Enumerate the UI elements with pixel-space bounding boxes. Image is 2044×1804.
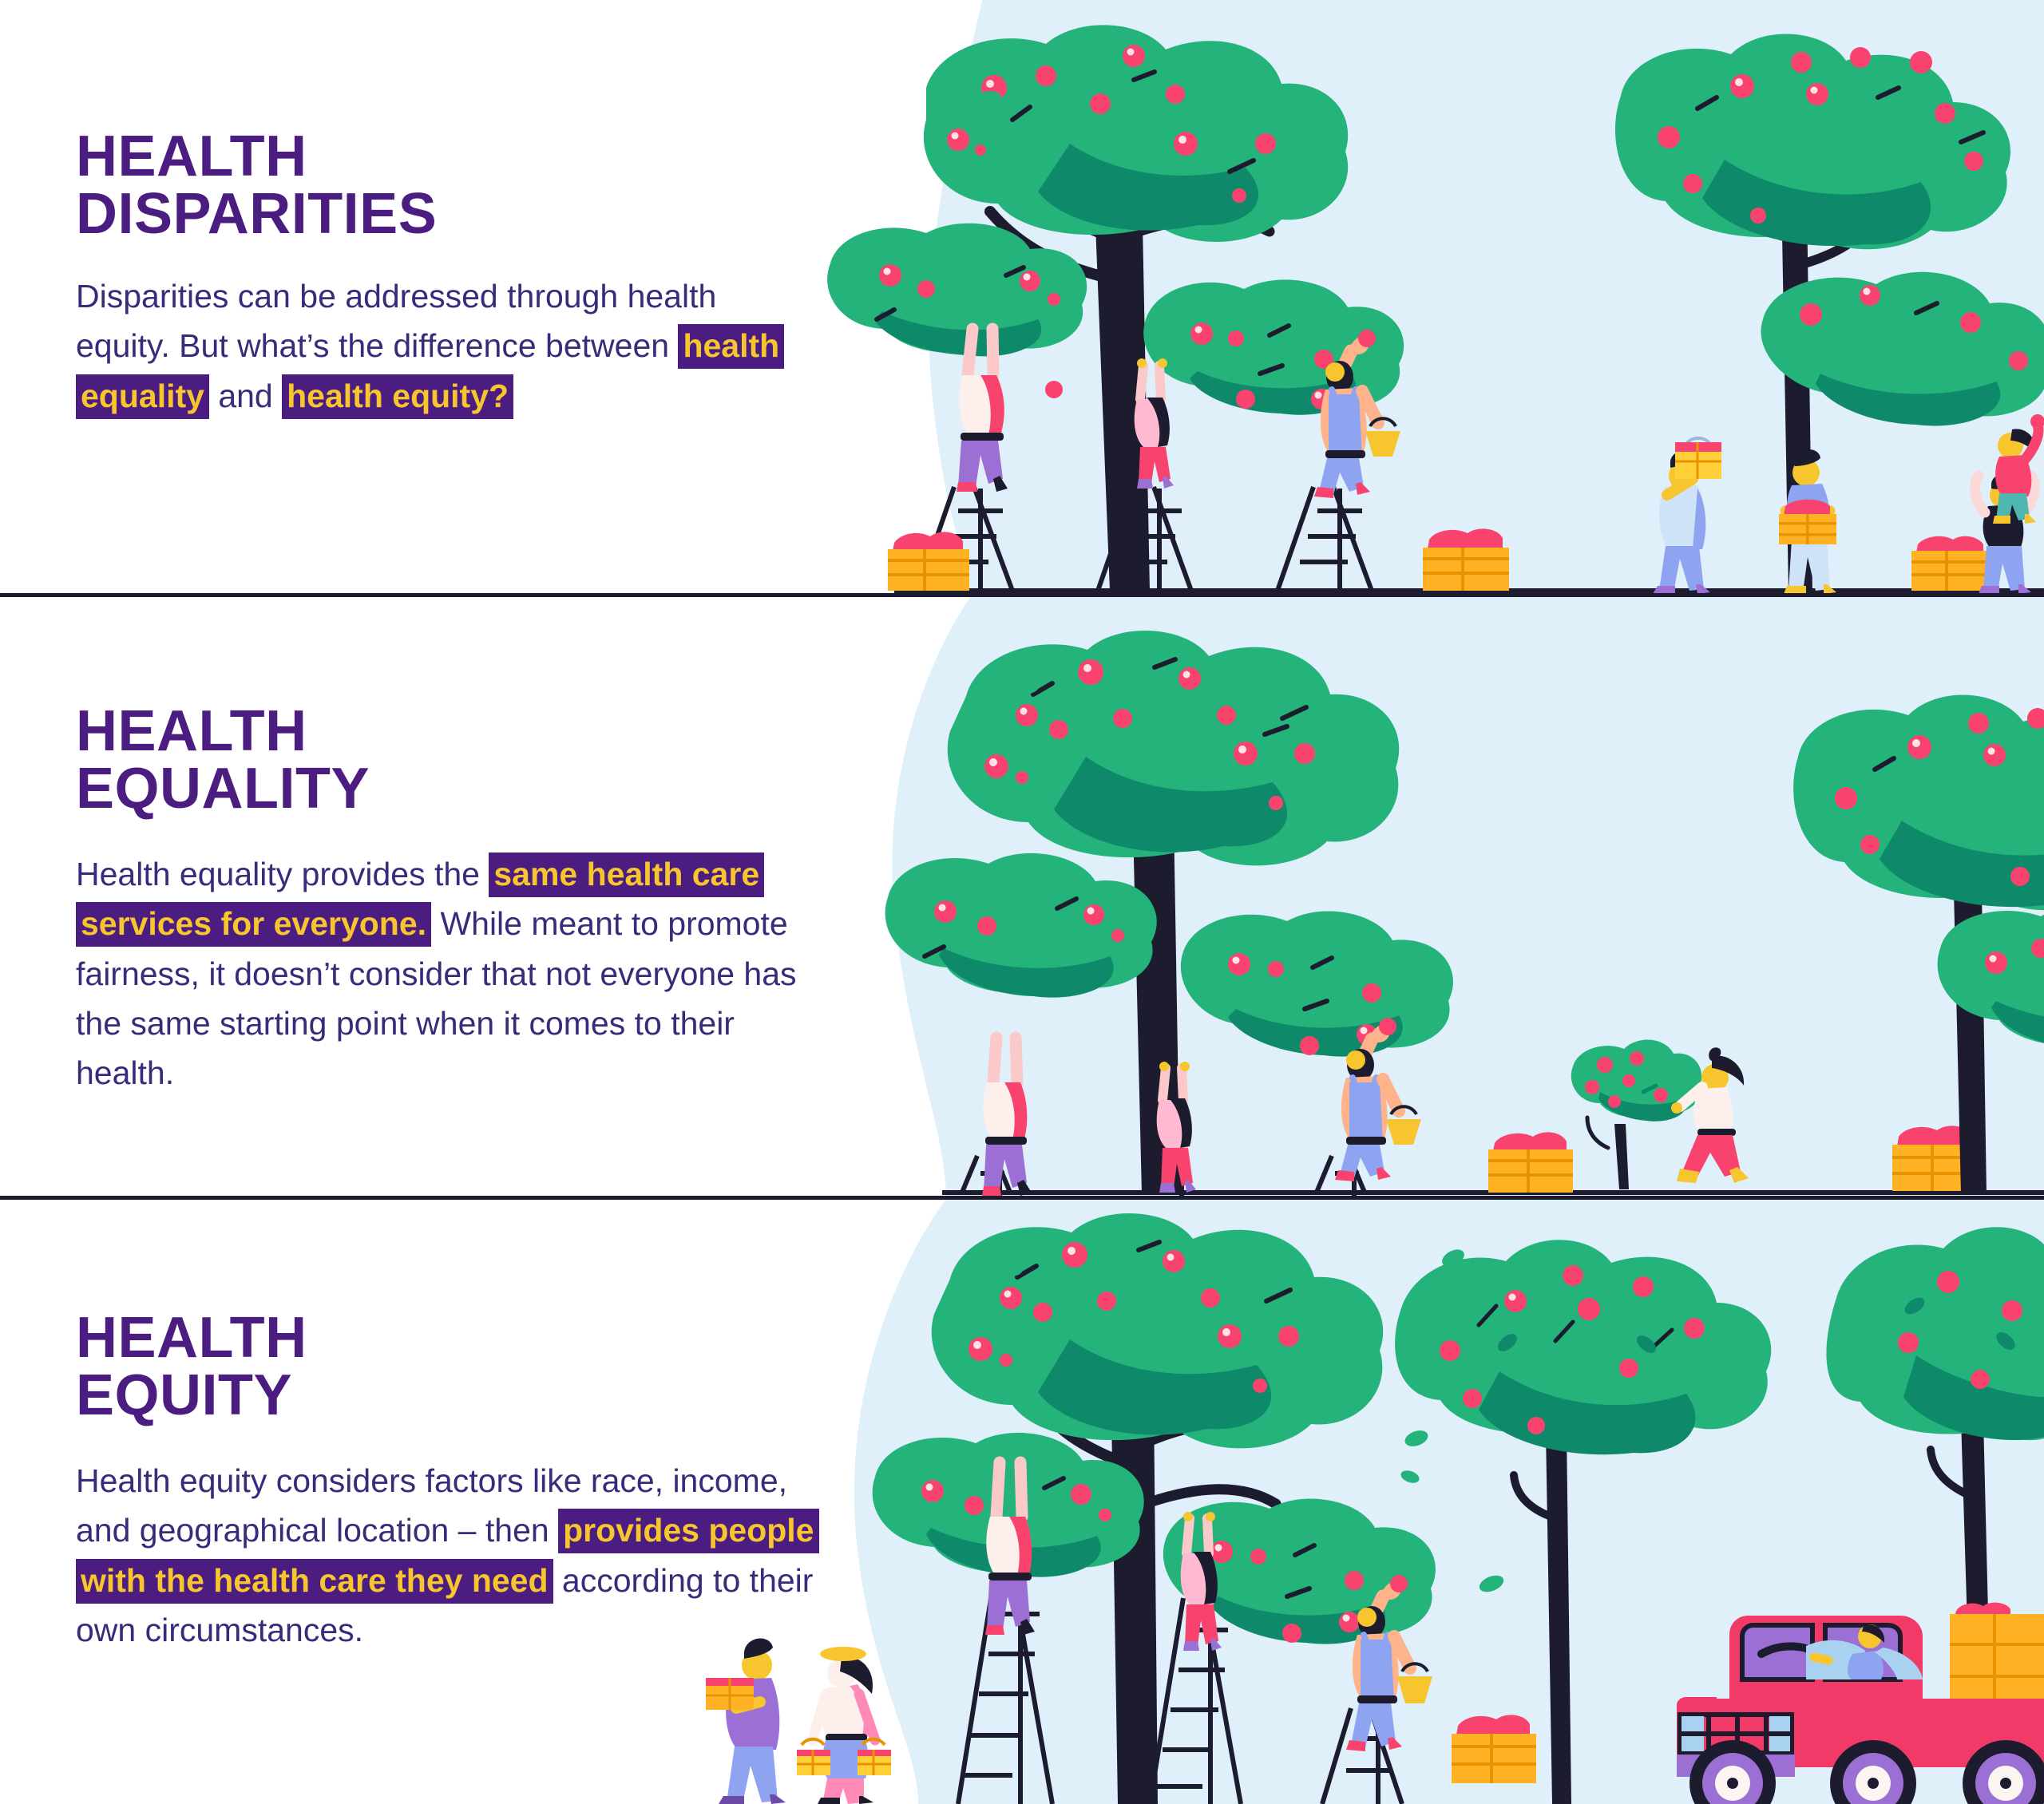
ladder-tall — [958, 1584, 1052, 1804]
paragraph-equality: Health equality provides the same health… — [76, 849, 826, 1098]
picker-person — [982, 1038, 1032, 1196]
apple-tree-main — [827, 25, 1404, 591]
apple-bush — [1571, 1040, 1701, 1189]
walking-person-with-crate — [1653, 438, 1721, 594]
page-title-disparities: HEALTH DISPARITIES — [76, 128, 810, 243]
apple-crate — [888, 532, 969, 591]
section-health-equality: HEALTH EQUALITY Health equality provides… — [76, 702, 826, 1098]
pickup-truck — [1677, 1603, 2044, 1804]
walking-person-with-crate — [706, 1639, 786, 1804]
page-title-equality: HEALTH EQUALITY — [76, 702, 826, 817]
infographic-page: HEALTH DISPARITIES Disparities can be ad… — [0, 0, 2044, 1804]
highlighted-phrase: same health care services for everyone. — [76, 853, 764, 947]
apple-tree-secondary — [1793, 695, 2044, 1194]
picker-person — [1135, 358, 1174, 489]
page-title-equity: HEALTH EQUITY — [76, 1309, 826, 1424]
person-with-child-on-shoulders — [1975, 414, 2044, 594]
apple-crate — [1452, 1715, 1536, 1783]
apple-crate — [1423, 528, 1509, 591]
walking-person-with-baskets — [797, 1647, 891, 1804]
section-divider — [0, 1196, 2044, 1200]
paragraph-equity: Health equity considers factors like rac… — [76, 1456, 826, 1655]
highlighted-phrase: health equity? — [282, 374, 513, 419]
apple-crate — [1911, 536, 1988, 591]
apple-crate — [1488, 1132, 1573, 1193]
highlighted-phrase: provides people with the health care the… — [76, 1509, 819, 1603]
ladder — [1277, 487, 1372, 592]
section-health-disparities: HEALTH DISPARITIES Disparities can be ad… — [76, 128, 810, 421]
paragraph-disparities: Disparities can be addressed through hea… — [76, 271, 810, 421]
section-health-equity: HEALTH EQUITY Health equity considers fa… — [76, 1309, 826, 1655]
section-divider — [0, 593, 2044, 597]
apple-tree-tertiary — [1826, 1199, 2044, 1678]
